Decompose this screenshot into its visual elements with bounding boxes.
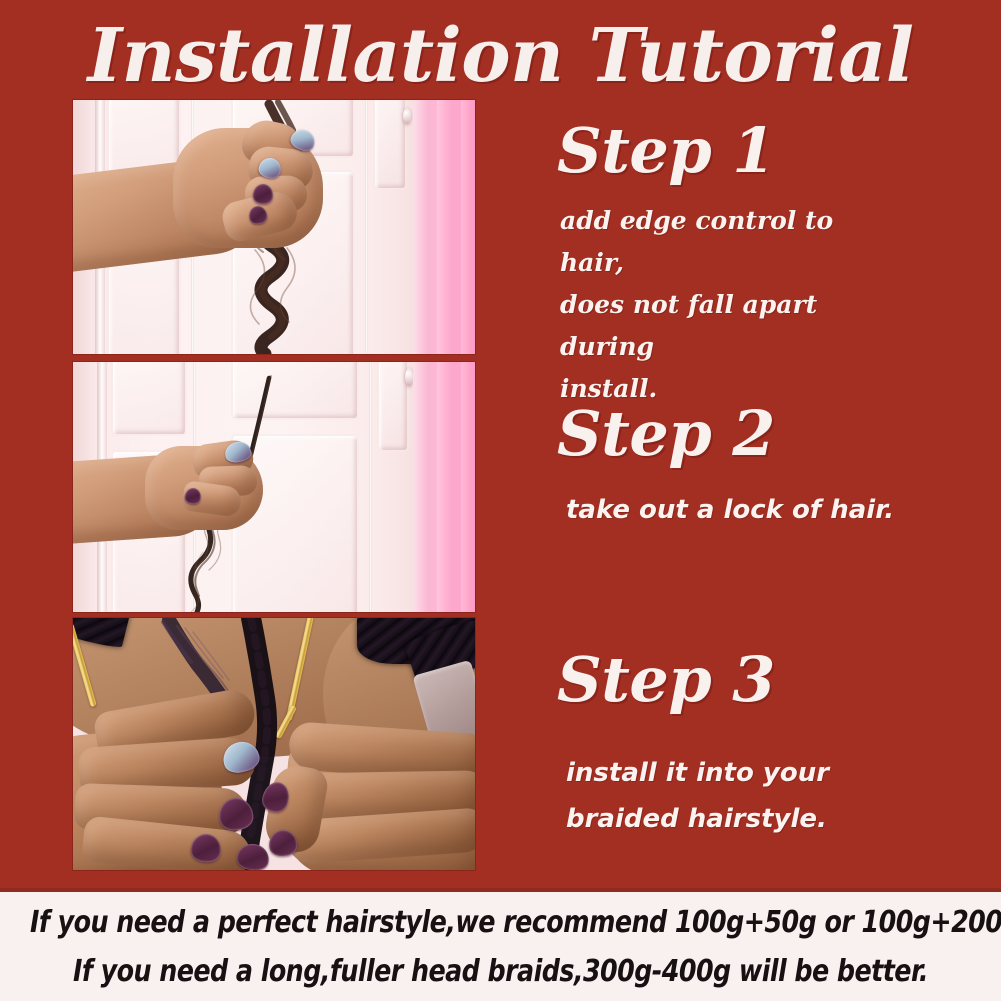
step-1-body-line: does not fall apart during	[560, 284, 890, 368]
step-3-body: install it into your braided hairstyle.	[566, 750, 906, 842]
door-background-1	[73, 100, 475, 354]
fingernail	[253, 184, 274, 205]
installation-tutorial-poster: Installation Tutorial	[0, 0, 1001, 1001]
banner-line-1: If you need a perfect hairstyle,we recom…	[30, 906, 971, 940]
step-1-heading: Step 1	[557, 116, 775, 186]
step-1-body: add edge control to hair, does not fall …	[560, 200, 890, 410]
step-3-body-line: braided hairstyle.	[566, 796, 906, 842]
step-2-body: take out a lock of hair.	[566, 487, 906, 533]
page-title: Installation Tutorial	[0, 14, 1001, 98]
step-1-photo	[73, 100, 475, 354]
step-1-body-line: add edge control to hair,	[560, 200, 890, 284]
step-3-heading: Step 3	[557, 645, 775, 715]
recommendation-banner: If you need a perfect hairstyle,we recom…	[0, 888, 1001, 1001]
step-2-body-line: take out a lock of hair.	[566, 487, 906, 533]
step-2-heading: Step 2	[557, 399, 775, 469]
step-3-body-line: install it into your	[566, 750, 906, 796]
banner-line-2: If you need a long,fuller head braids,30…	[30, 955, 971, 989]
braid-closeup-background	[73, 618, 475, 870]
step-3-photo	[73, 618, 475, 870]
step-2-photo	[73, 362, 475, 612]
door-background-2	[73, 362, 475, 612]
